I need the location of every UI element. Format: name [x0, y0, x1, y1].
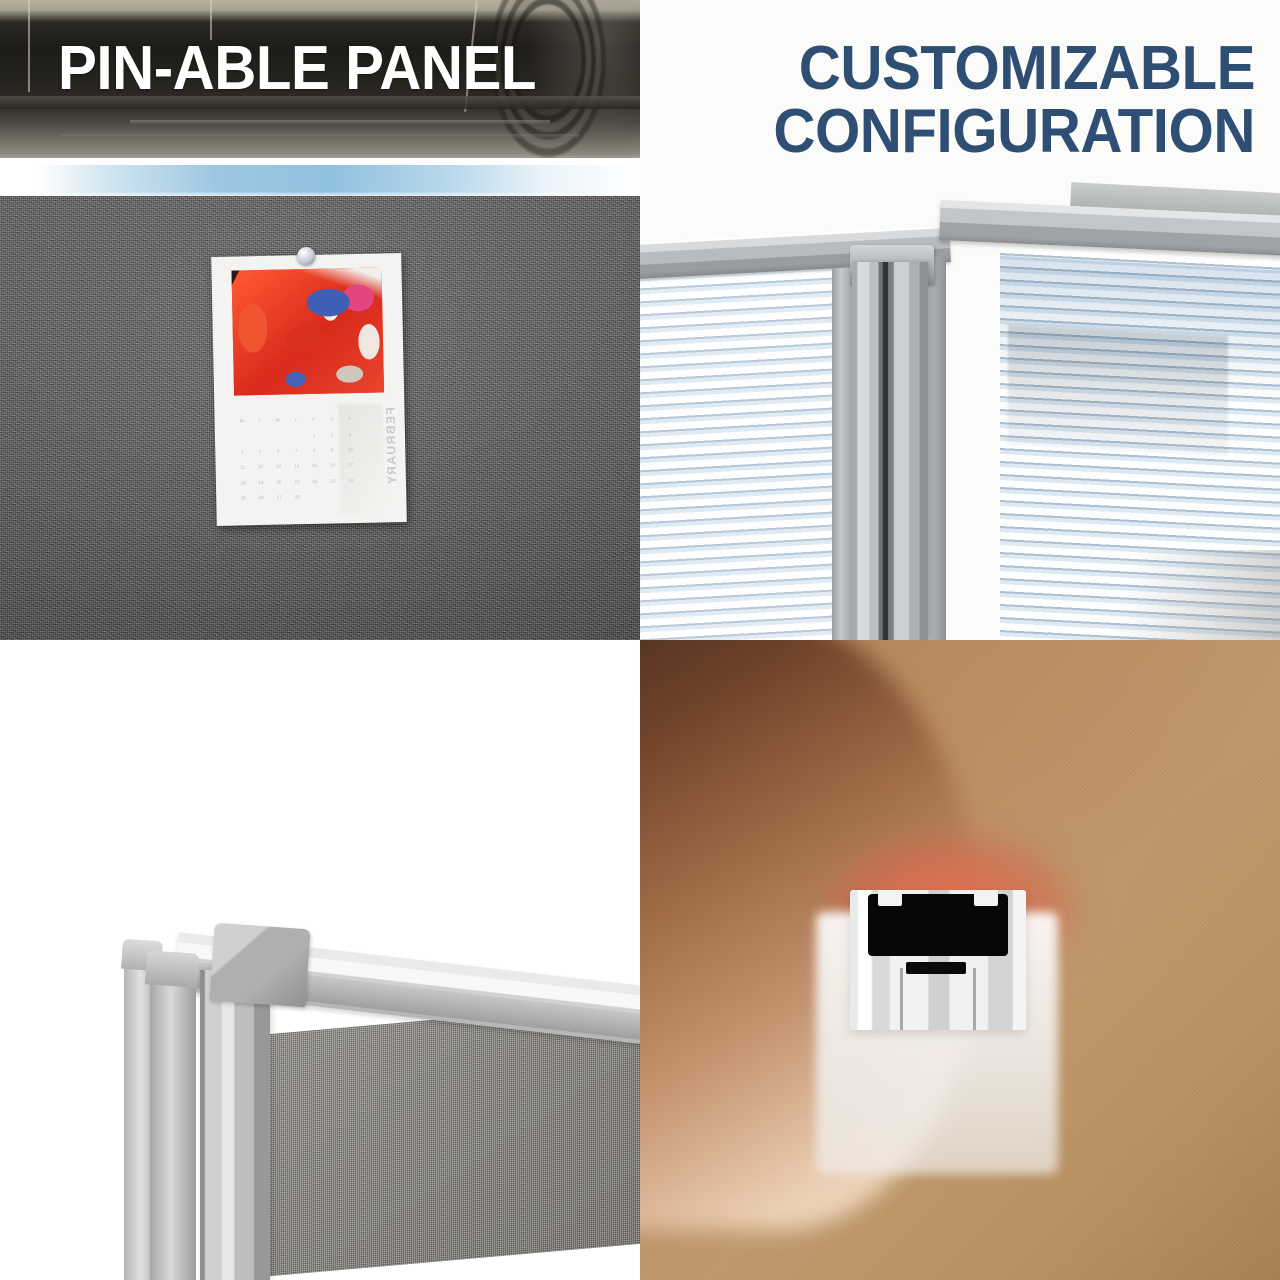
- heading-pin-able-panel: PIN-ABLE PANEL: [58, 38, 594, 101]
- post-edge-left: [832, 268, 854, 640]
- calendar-day: 17: [341, 458, 359, 474]
- extrusion-lip: [906, 962, 966, 974]
- gray-fabric-panel: [226, 1002, 640, 1280]
- push-pin-icon: [297, 247, 315, 265]
- calendar-day: 7: [287, 444, 305, 460]
- calendar-month-label: FEBRUARY: [383, 407, 399, 486]
- calendar-day: 16: [323, 458, 341, 474]
- calendar-weekday: S: [340, 412, 358, 428]
- calendar-day: 13: [269, 459, 287, 475]
- calendar-day: 3: [341, 427, 359, 443]
- calendar-day: 24: [342, 473, 360, 489]
- extrusion-groove-left: [900, 968, 903, 1030]
- feature-collage: MTWTFSS123456789101112131415161718192021…: [0, 0, 1280, 1280]
- extrusion-channel: [868, 894, 1008, 956]
- calendar-day-grid: MTWTFSS123456789101112131415161718192021…: [233, 412, 361, 507]
- calendar-day: 6: [269, 444, 287, 460]
- aluminum-connector-post: [852, 262, 928, 640]
- extrusion-groove-right: [973, 968, 976, 1030]
- frame-post-middle: [150, 978, 196, 1280]
- calendar-day: 25: [234, 491, 252, 507]
- calendar-day: 1: [305, 428, 323, 444]
- calendar-weekday: M: [233, 414, 251, 430]
- panel-toolless-assembly: TOOLLESS ASSEMBLY: [640, 640, 1280, 1280]
- calendar-day: [269, 429, 287, 445]
- calendar-day: 14: [287, 459, 305, 475]
- calendar-day: 27: [270, 490, 288, 506]
- calendar-day: 11: [233, 460, 251, 476]
- calendar-day: 12: [251, 460, 269, 476]
- aluminum-extrusion-profile: [850, 890, 1026, 1030]
- frame-post-front: [200, 970, 270, 1280]
- calendar-day: [287, 428, 305, 444]
- calendar-day: 19: [252, 475, 270, 491]
- panel-pin-able: MTWTFSS123456789101112131415161718192021…: [0, 0, 640, 640]
- calendar-day: 28: [288, 490, 306, 506]
- calendar-day: 10: [341, 443, 359, 459]
- calendar-day: 9: [323, 443, 341, 459]
- calendar-weekday: T: [286, 413, 304, 429]
- frame-corner-cap: [209, 923, 310, 1008]
- calendar-day: 23: [324, 474, 342, 490]
- panel-top-rail: [0, 158, 640, 198]
- heading-customizable-configuration: CUSTOMIZABLE CONFIGURATION: [710, 38, 1255, 163]
- calendar-day: 22: [306, 474, 324, 490]
- calendar-day: 20: [270, 475, 288, 491]
- calendar-weekday: T: [251, 414, 269, 430]
- calendar-day: 5: [251, 445, 269, 461]
- calendar-day: 8: [305, 443, 323, 459]
- calendar-day: 26: [252, 490, 270, 506]
- pinned-calendar: MTWTFSS123456789101112131415161718192021…: [211, 253, 407, 526]
- post-edge-right: [928, 256, 946, 640]
- frame-cap-middle: [145, 950, 199, 988]
- corner-shadow: [1020, 550, 1280, 640]
- calendar-weekday: F: [304, 413, 322, 429]
- calendar-day: [233, 430, 251, 446]
- calendar-artwork: [231, 267, 384, 395]
- building-through-blinds: [1008, 324, 1228, 456]
- calendar-day: [342, 489, 360, 505]
- calendar-day: 2: [323, 428, 341, 444]
- panel-light-aircraft-aluminum-frame: LIGHT AIRCRAFT ALUMINUM FRAME: [0, 640, 640, 1280]
- calendar-weekday: S: [322, 412, 340, 428]
- calendar-day: 21: [288, 474, 306, 490]
- calendar-day: 18: [234, 476, 252, 492]
- calendar-day: [306, 489, 324, 505]
- calendar-day: 15: [305, 459, 323, 475]
- calendar-weekday: W: [269, 413, 287, 429]
- panel-customizable-configuration: CUSTOMIZABLE CONFIGURATION: [640, 0, 1280, 640]
- calendar-day: 4: [233, 445, 251, 461]
- calendar-day: [251, 429, 269, 445]
- calendar-day: [324, 489, 342, 505]
